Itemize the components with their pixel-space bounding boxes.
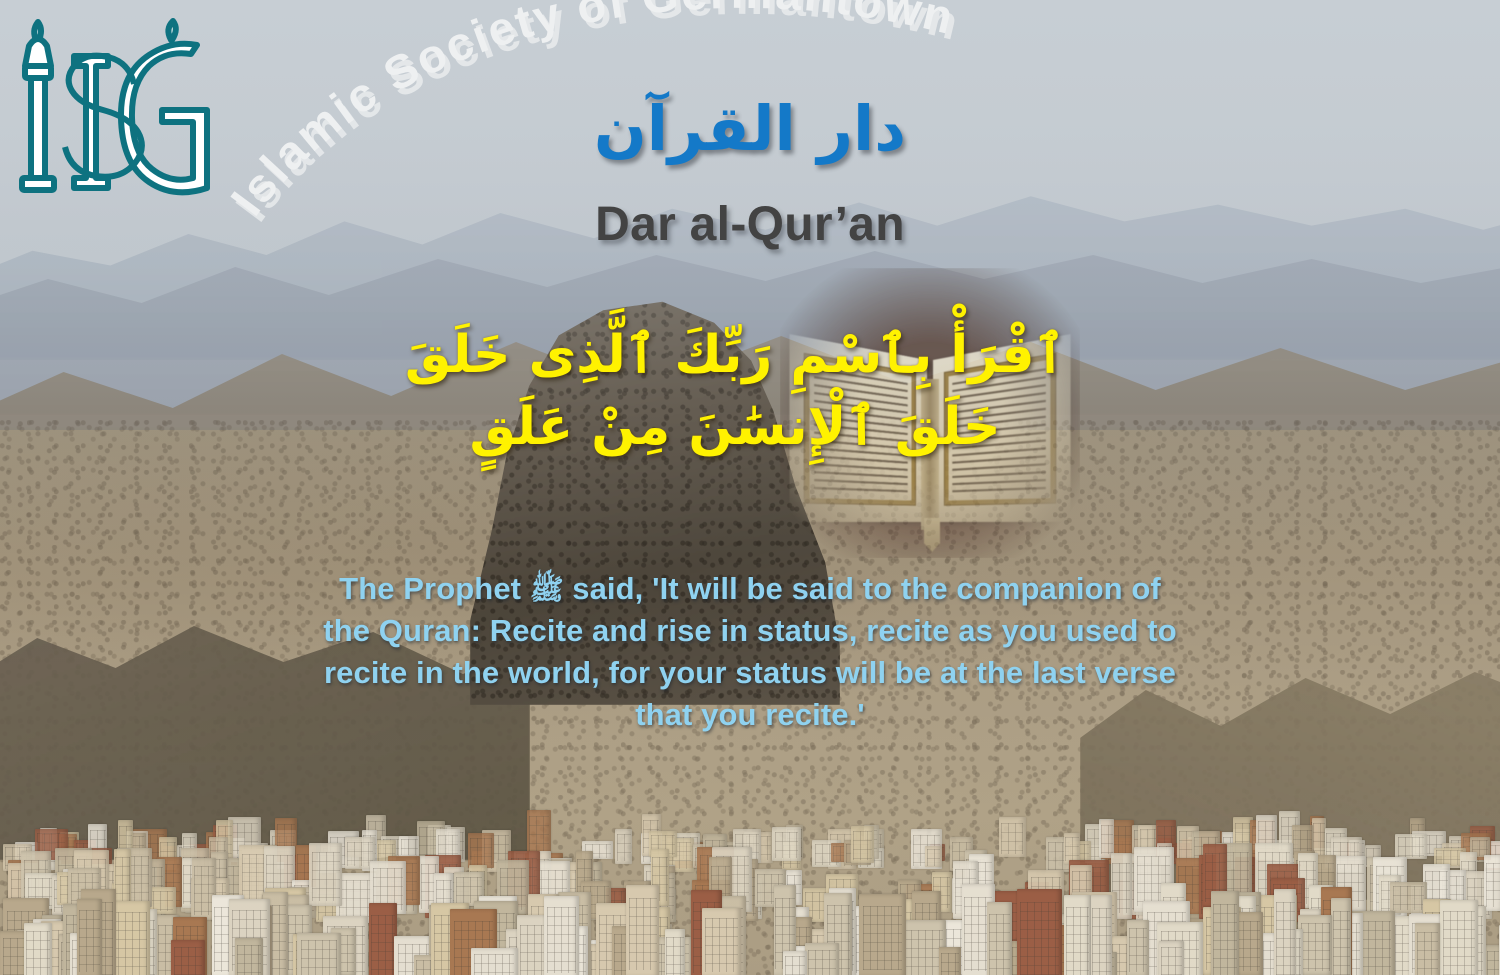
city-building bbox=[114, 849, 131, 906]
city-building bbox=[1091, 895, 1113, 975]
city-building bbox=[1390, 882, 1427, 913]
city-building bbox=[1211, 891, 1240, 975]
city-building bbox=[987, 902, 1012, 975]
city-building bbox=[1159, 941, 1185, 975]
latin-page-title: Dar al-Qur’an bbox=[0, 197, 1500, 252]
city-building bbox=[171, 940, 205, 975]
city-building bbox=[1298, 915, 1332, 975]
city-building bbox=[702, 908, 741, 975]
city-building bbox=[1331, 898, 1351, 975]
hadith-text-before: The Prophet bbox=[339, 571, 530, 606]
city-building bbox=[805, 943, 838, 975]
ayah-line-2: خَلَقَ ٱلْإِنسَٰنَ مِنْ عَلَقٍ bbox=[0, 392, 1500, 464]
arabic-page-title: دار القرآن bbox=[0, 96, 1500, 161]
city-building bbox=[468, 833, 494, 867]
pbuh-icon: ﷺ bbox=[530, 573, 564, 606]
city-building bbox=[369, 903, 397, 975]
city-building bbox=[24, 923, 52, 975]
city-building bbox=[783, 951, 806, 975]
city-building bbox=[77, 899, 102, 975]
city-building bbox=[1274, 889, 1296, 975]
city-building bbox=[859, 894, 905, 975]
city-building bbox=[1484, 855, 1500, 911]
city-building bbox=[471, 948, 518, 975]
city-building bbox=[1099, 819, 1113, 857]
city-building bbox=[544, 896, 579, 975]
city-building bbox=[1017, 889, 1063, 975]
city-building bbox=[925, 846, 941, 867]
city-building bbox=[1415, 923, 1440, 975]
city-building bbox=[309, 843, 342, 906]
city-building bbox=[1440, 900, 1478, 975]
city-building bbox=[1484, 945, 1500, 975]
city-building bbox=[772, 827, 800, 861]
poster-canvas: Islamic Society of Germantown Islamic So… bbox=[0, 0, 1500, 975]
city-building bbox=[626, 885, 660, 975]
city-building bbox=[851, 826, 873, 863]
city-building bbox=[1127, 920, 1149, 975]
city-building bbox=[527, 810, 550, 856]
city-building bbox=[235, 938, 264, 975]
city-building bbox=[665, 929, 685, 975]
hadith-quote: The Prophet ﷺ said, 'It will be said to … bbox=[315, 568, 1185, 737]
quran-ayah: ٱقْرَأْ بِٱسْمِ رَبِّكَ ٱلَّذِى خَلَقَ خ… bbox=[0, 320, 1500, 464]
city-building bbox=[1395, 834, 1427, 860]
city-building bbox=[297, 933, 341, 975]
city-building bbox=[999, 817, 1026, 857]
city-building bbox=[1064, 895, 1091, 975]
city-building bbox=[399, 836, 419, 857]
ayah-line-1: ٱقْرَأْ بِٱسْمِ رَبِّكَ ٱلَّذِى خَلَقَ bbox=[0, 320, 1500, 392]
city-building bbox=[939, 947, 961, 975]
city-building bbox=[615, 829, 632, 863]
